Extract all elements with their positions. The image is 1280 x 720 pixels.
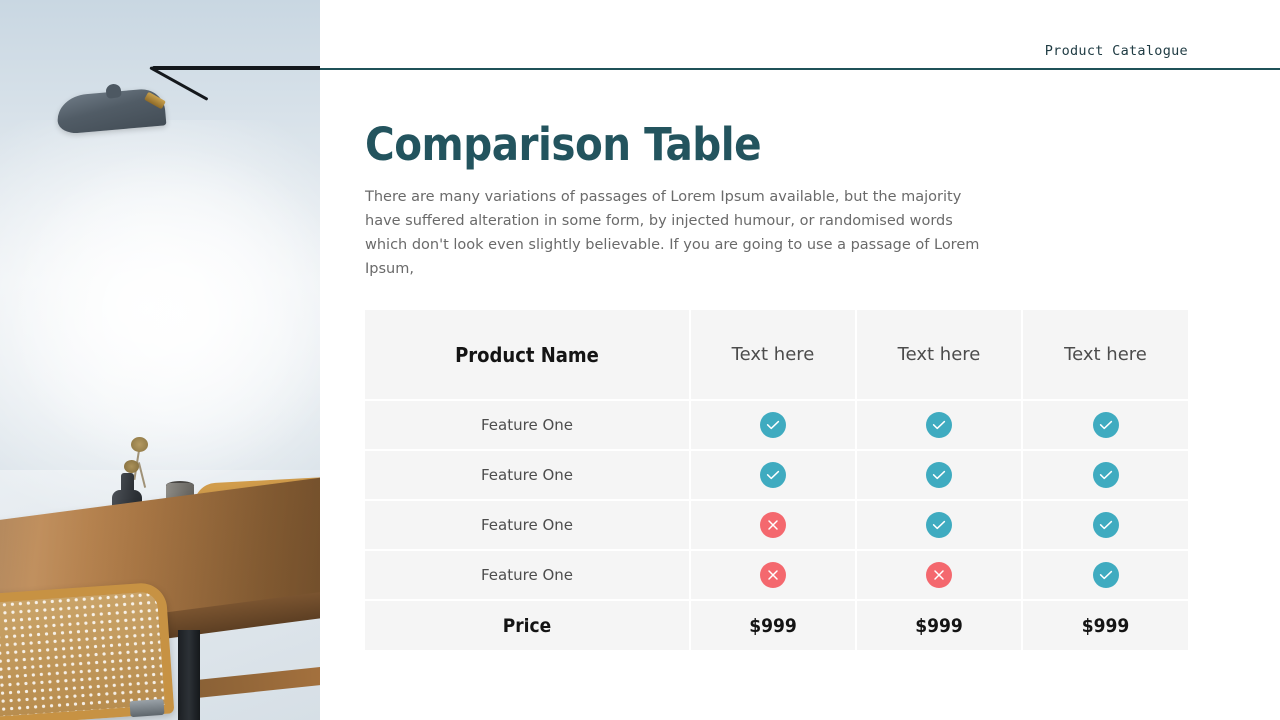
column-header-1: Text here [690, 310, 856, 400]
check-icon [1093, 412, 1119, 438]
check-icon [1093, 562, 1119, 588]
catalogue-label: Product Catalogue [1045, 43, 1188, 59]
feature-label: Feature One [365, 500, 690, 550]
price-label: Price [365, 600, 690, 650]
price-value: $999 [690, 600, 856, 650]
feature-cell [1022, 550, 1188, 600]
check-icon [926, 412, 952, 438]
feature-cell [690, 500, 856, 550]
feature-cell [856, 450, 1022, 500]
table-row: Feature One [365, 400, 1188, 450]
check-icon [926, 462, 952, 488]
price-value: $999 [856, 600, 1022, 650]
slide-header: Product Catalogue [320, 0, 1280, 69]
feature-cell [690, 550, 856, 600]
feature-label: Feature One [365, 400, 690, 450]
comparison-table: Product Name Text here Text here Text he… [365, 310, 1188, 650]
table-header-row: Product Name Text here Text here Text he… [365, 310, 1188, 400]
feature-cell [856, 500, 1022, 550]
photo-panel [0, 0, 320, 720]
page-title: Comparison Table [365, 118, 761, 171]
header-divider [320, 68, 1280, 70]
check-icon [760, 462, 786, 488]
feature-cell [856, 550, 1022, 600]
feature-cell [690, 450, 856, 500]
feature-cell [1022, 450, 1188, 500]
table-row: Feature One [365, 450, 1188, 500]
table-price-row: Price $999 $999 $999 [365, 600, 1188, 650]
cross-icon [760, 562, 786, 588]
wall-glow-secondary [10, 150, 320, 480]
page-description: There are many variations of passages of… [365, 185, 985, 281]
table-shelf [197, 664, 320, 698]
feature-label: Feature One [365, 550, 690, 600]
feature-cell [1022, 500, 1188, 550]
feature-cell [856, 400, 1022, 450]
column-header-product-name: Product Name [365, 310, 690, 400]
flower-bloom-one [131, 437, 148, 452]
feature-cell [690, 400, 856, 450]
check-icon [926, 512, 952, 538]
chair-hinge [129, 699, 164, 717]
lamp-arm-upper [152, 66, 320, 70]
column-header-3: Text here [1022, 310, 1188, 400]
check-icon [760, 412, 786, 438]
table-row: Feature One [365, 500, 1188, 550]
slide-content: Product Catalogue Comparison Table There… [320, 0, 1280, 720]
flower-bloom-two [124, 460, 139, 473]
cross-icon [926, 562, 952, 588]
table-leg [178, 630, 200, 720]
check-icon [1093, 462, 1119, 488]
table-body: Feature One Feature One Feature One Feat… [365, 400, 1188, 650]
feature-label: Feature One [365, 450, 690, 500]
column-header-2: Text here [856, 310, 1022, 400]
check-icon [1093, 512, 1119, 538]
cross-icon [760, 512, 786, 538]
table-row: Feature One [365, 550, 1188, 600]
feature-cell [1022, 400, 1188, 450]
price-value: $999 [1022, 600, 1188, 650]
